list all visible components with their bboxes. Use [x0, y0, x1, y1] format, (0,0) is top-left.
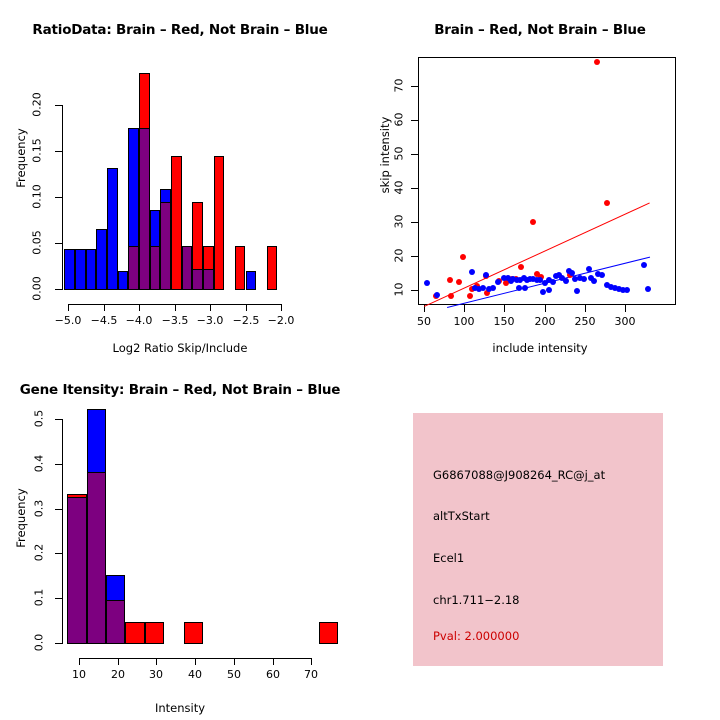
panel-ratio-histogram: RatioData: Brain – Red, Not Brain – Blue…	[0, 0, 360, 360]
panel2-x-tick-label: 150	[484, 315, 524, 328]
panel2-y-tick	[411, 222, 418, 223]
panel3-y-tick-label: 0.4	[33, 449, 46, 479]
scatter-point	[495, 279, 501, 285]
histogram-bar	[118, 271, 129, 290]
scatter-point	[448, 293, 454, 299]
panel2-x-tick	[625, 305, 626, 312]
panel3-y-tick	[55, 464, 62, 465]
panel2-x-tick	[504, 305, 505, 312]
panel3-y-tick-label: 0.2	[33, 538, 46, 568]
panel3-x-tick-label: 30	[136, 668, 176, 681]
panel2-y-tick	[411, 256, 418, 257]
panel3-x-tick-label: 70	[291, 668, 331, 681]
histogram-bar-overlap	[139, 128, 150, 290]
histogram-bar	[319, 622, 338, 644]
panel3-x-tick-label: 10	[59, 668, 99, 681]
panel1-y-tick-label: 0.00	[31, 272, 44, 306]
panel1-x-tick-label: −4.0	[119, 314, 159, 327]
panel1-y-tick	[55, 151, 62, 152]
panel1-x-tick-label: −3.0	[190, 314, 230, 327]
panel3-y-tick-label: 0.0	[33, 628, 46, 658]
panel3-x-tick	[195, 658, 196, 665]
panel1-x-tick	[104, 304, 105, 311]
panel3-y-axis	[62, 419, 63, 644]
panel1-x-tick-label: −2.5	[226, 314, 266, 327]
histogram-bar	[145, 622, 164, 644]
panel2-y-tick-label: 40	[393, 177, 406, 199]
panel1-y-axis	[62, 105, 63, 290]
scatter-point	[581, 276, 587, 282]
panel2-y-tick	[411, 188, 418, 189]
histogram-bar-overlap	[150, 246, 161, 290]
histogram-bar-overlap	[192, 269, 203, 290]
panel1-x-tick-label: −2.0	[261, 314, 301, 327]
panel2-x-tick-label: 50	[404, 315, 444, 328]
panel-gene-intensity-histogram: Gene Itensity: Brain – Red, Not Brain – …	[0, 360, 360, 720]
panel2-y-tick-label: 30	[393, 211, 406, 233]
panel2-plot-frame	[418, 57, 676, 305]
panel1-y-tick-label: 0.05	[31, 226, 44, 260]
panel3-x-tick	[79, 658, 80, 665]
panel2-x-tick-label: 300	[605, 315, 645, 328]
scatter-point	[434, 292, 440, 298]
panel1-x-tick-label: −3.5	[155, 314, 195, 327]
histogram-bar-overlap	[128, 246, 139, 290]
panel1-x-tick	[210, 304, 211, 311]
panel1-y-tick-label: 0.20	[31, 88, 44, 122]
scatter-point	[641, 262, 647, 268]
histogram-bar	[235, 246, 246, 290]
panel3-x-tick-label: 50	[214, 668, 254, 681]
panel3-xlabel: Intensity	[30, 701, 330, 715]
panel1-x-tick-label: −4.5	[84, 314, 124, 327]
histogram-bar	[246, 271, 257, 290]
panel3-y-tick	[55, 419, 62, 420]
histogram-bar-overlap	[87, 472, 106, 644]
histogram-bar	[107, 168, 118, 290]
panel3-x-tick-label: 60	[253, 668, 293, 681]
scatter-point	[550, 279, 556, 285]
panel3-title: Gene Itensity: Brain – Red, Not Brain – …	[0, 382, 360, 398]
histogram-bar-overlap	[106, 600, 125, 644]
pval-text: Pval: 2.000000	[433, 629, 519, 643]
panel2-x-tick-label: 250	[565, 315, 605, 328]
panel1-y-tick	[55, 289, 62, 290]
histogram-bar	[214, 156, 225, 290]
histogram-bar-overlap	[203, 269, 214, 290]
panel3-y-tick-label: 0.3	[33, 494, 46, 524]
panel1-title: RatioData: Brain – Red, Not Brain – Blue	[0, 22, 360, 38]
scatter-point	[563, 278, 569, 284]
panel3-x-tick	[118, 658, 119, 665]
panel1-x-tick	[281, 304, 282, 311]
panel2-y-tick	[411, 86, 418, 87]
panel2-x-tick-label: 100	[444, 315, 484, 328]
panel1-y-tick-label: 0.15	[31, 134, 44, 168]
panel3-y-tick-label: 0.5	[33, 404, 46, 434]
panel3-y-tick-label: 0.1	[33, 583, 46, 613]
panel2-y-tick	[411, 154, 418, 155]
histogram-bar	[125, 622, 144, 644]
scatter-point	[483, 272, 489, 278]
panel2-y-tick-label: 60	[393, 109, 406, 131]
figure-canvas: RatioData: Brain – Red, Not Brain – Blue…	[0, 0, 720, 720]
panel2-x-tick	[585, 305, 586, 312]
panel2-y-tick	[411, 290, 418, 291]
panel3-ylabel: Frequency	[14, 448, 28, 588]
panel3-y-tick	[55, 598, 62, 599]
panel2-x-tick-label: 200	[525, 315, 565, 328]
panel3-y-tick	[55, 553, 62, 554]
panel1-x-tick-label: −5.0	[48, 314, 88, 327]
probe-id-text: G6867088@J908264_RC@j_at	[433, 468, 605, 482]
panel2-y-tick-label: 20	[393, 245, 406, 267]
panel3-y-tick	[55, 509, 62, 510]
panel1-x-tick	[68, 304, 69, 311]
panel2-ylabel: skip intensity	[378, 80, 392, 230]
panel2-y-tick-label: 10	[393, 279, 406, 301]
panel1-xlabel: Log2 Ratio Skip/Include	[30, 341, 330, 355]
event-type-text: altTxStart	[433, 509, 490, 523]
panel3-x-tick-label: 20	[98, 668, 138, 681]
gene-info-box: G6867088@J908264_RC@j_at altTxStart Ecel…	[413, 413, 663, 666]
histogram-bar	[64, 249, 75, 290]
histogram-bar-overlap	[160, 202, 171, 290]
panel2-xlabel: include intensity	[390, 341, 690, 355]
histogram-bar	[75, 249, 86, 290]
panel2-x-tick	[464, 305, 465, 312]
gene-symbol-text: Ecel1	[433, 551, 464, 565]
histogram-bar	[267, 246, 278, 290]
scatter-point	[546, 287, 552, 293]
histogram-bar-overlap	[182, 246, 193, 290]
scatter-point	[604, 200, 610, 206]
histogram-bar	[184, 622, 203, 644]
panel-intensity-scatter: Brain – Red, Not Brain – Blue include in…	[360, 0, 720, 360]
panel2-y-tick	[411, 120, 418, 121]
scatter-point	[574, 288, 580, 294]
panel3-x-tick	[311, 658, 312, 665]
panel3-x-tick-label: 40	[175, 668, 215, 681]
histogram-bar	[171, 156, 182, 290]
scatter-point	[516, 285, 522, 291]
panel1-y-tick	[55, 105, 62, 106]
panel1-ylabel: Frequency	[14, 88, 28, 228]
scatter-point	[456, 279, 462, 285]
histogram-bar-overlap	[67, 497, 86, 644]
panel1-y-tick	[55, 243, 62, 244]
panel1-y-tick-label: 0.10	[31, 180, 44, 214]
panel2-y-tick-label: 70	[393, 75, 406, 97]
panel1-x-tick	[175, 304, 176, 311]
scatter-point	[624, 287, 630, 293]
panel3-x-tick	[156, 658, 157, 665]
panel2-y-tick-label: 50	[393, 143, 406, 165]
scatter-point	[645, 286, 651, 292]
panel2-x-tick	[545, 305, 546, 312]
panel1-x-tick	[246, 304, 247, 311]
scatter-point	[518, 264, 524, 270]
panel2-title: Brain – Red, Not Brain – Blue	[360, 22, 720, 38]
panel1-y-tick	[55, 197, 62, 198]
panel3-x-tick	[273, 658, 274, 665]
panel3-y-tick	[55, 643, 62, 644]
locus-text: chr1.711−2.18	[433, 593, 520, 607]
panel1-x-tick	[139, 304, 140, 311]
histogram-bar	[96, 229, 107, 290]
histogram-bar	[86, 249, 97, 290]
panel3-x-tick	[234, 658, 235, 665]
